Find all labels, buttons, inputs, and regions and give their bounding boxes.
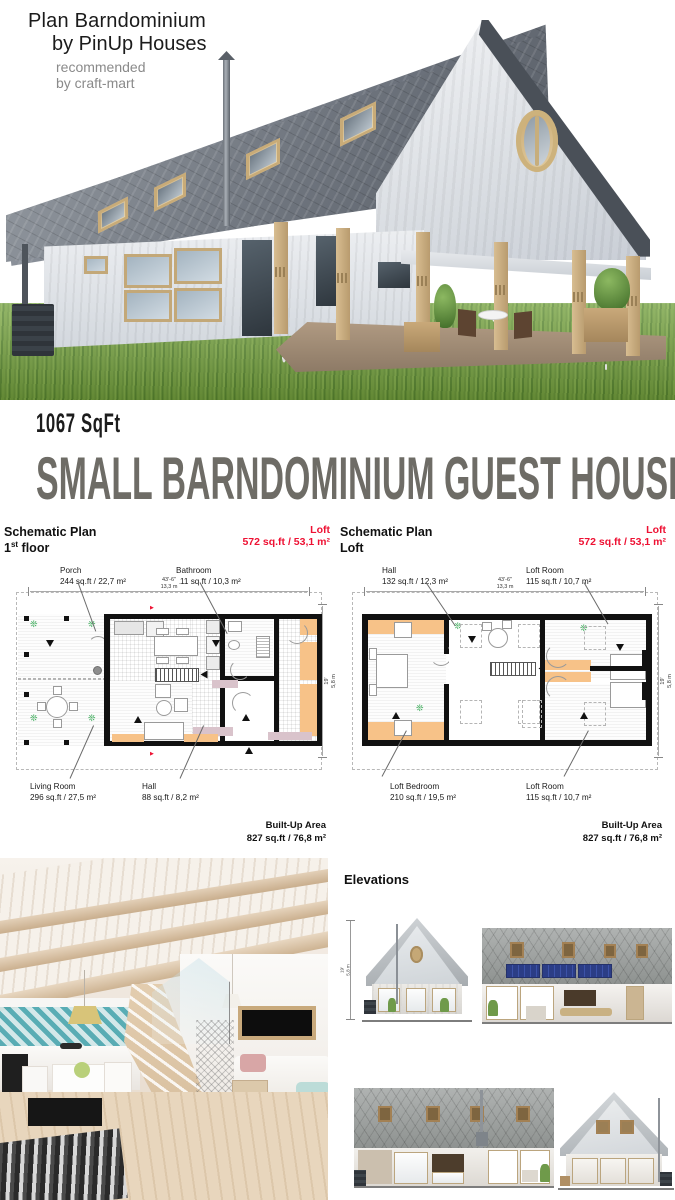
potted-plant xyxy=(388,998,396,1012)
elevation-height-dimension: 19'5,8 m xyxy=(346,920,360,1020)
elevation-rear-side xyxy=(354,1088,554,1188)
callout-arrow xyxy=(242,714,250,721)
section-marker: ▶ xyxy=(150,606,154,611)
entry-mat xyxy=(268,732,312,740)
skylight-projection xyxy=(584,626,606,650)
brand-line-2: by PinUp Houses xyxy=(52,33,207,56)
callout-porch: Porch 244 sq.ft / 22,7 m² xyxy=(60,566,126,587)
storage-box xyxy=(394,622,412,638)
built-up-area-label: Built-Up Area xyxy=(247,820,326,833)
ground-line xyxy=(362,1020,472,1022)
door xyxy=(626,986,644,1020)
callout-arrow xyxy=(580,712,588,719)
shrub-hedge xyxy=(560,1008,612,1016)
porch-post-plan xyxy=(24,616,29,621)
section-marker: ▶ xyxy=(150,752,154,757)
porch-post xyxy=(274,222,288,334)
loft-area-badge: Loft 572 sq.ft / 53,1 m² xyxy=(242,524,330,548)
built-up-area-value: 827 sq.ft / 76,8 m² xyxy=(247,833,326,846)
solar-panel-array xyxy=(506,964,540,978)
dimension-tick xyxy=(346,1019,355,1020)
interior-opening xyxy=(564,990,596,1006)
dining-chair xyxy=(176,628,189,635)
pendant-cord xyxy=(232,954,233,996)
brand-line-3: recommended xyxy=(56,59,207,75)
callout-loft-room-top-name: Loft Room xyxy=(526,566,591,577)
roof-window xyxy=(604,944,616,958)
sofa xyxy=(144,722,184,740)
callout-arrow xyxy=(616,644,624,651)
area-sqft-label: 1067 SqFt xyxy=(36,408,121,439)
callout-porch-area: 244 sq.ft / 22,7 m² xyxy=(60,577,126,588)
dining-chair xyxy=(156,628,169,635)
patio-chair-symbol xyxy=(53,719,62,728)
nightstand xyxy=(369,648,377,660)
water-tank xyxy=(12,304,54,356)
bathroom-door-swing xyxy=(230,660,250,680)
ground-line xyxy=(354,1186,554,1188)
staircase-symbol xyxy=(490,662,536,676)
cushion xyxy=(240,1054,266,1072)
callout-hall-area: 88 sq.ft / 8,2 m² xyxy=(142,793,199,804)
oval-gable-window xyxy=(516,110,558,172)
side-window xyxy=(124,254,172,288)
water-tank xyxy=(660,1172,672,1186)
patio-chair xyxy=(514,311,532,339)
round-table xyxy=(488,628,508,648)
callout-living-room: Living Room 296 sq.ft / 27,5 m² xyxy=(30,782,96,803)
interior-opening xyxy=(432,1154,464,1172)
elevation-window xyxy=(432,1172,464,1184)
solar-panel-array xyxy=(542,964,576,978)
porch-post-plan xyxy=(64,616,69,621)
patio-chair-symbol xyxy=(69,702,78,711)
patio-furniture xyxy=(526,1006,546,1020)
brand-line-4: by craft-mart xyxy=(56,75,207,91)
roof-window xyxy=(510,942,524,958)
depth-dimension-label: 19'5,8 m xyxy=(324,674,338,688)
kitchen-tile-backsplash xyxy=(0,1006,132,1046)
chimney-pipe xyxy=(396,924,398,1004)
loft-room-door-swing xyxy=(546,644,570,668)
brand-block: Plan Barndominium by PinUp Houses recomm… xyxy=(28,10,207,91)
washer-dryer xyxy=(256,636,270,658)
callout-arrow xyxy=(468,636,476,643)
callout-loft-hall-area: 132 sq.ft / 12,3 m² xyxy=(382,577,448,588)
porch-post-plan xyxy=(24,740,29,745)
callout-loft-hall-name: Hall xyxy=(382,566,448,577)
callout-arrow xyxy=(212,640,220,647)
patio-chair-symbol xyxy=(37,702,46,711)
gutter-downpipe xyxy=(22,244,28,310)
interior-photo xyxy=(0,858,328,1200)
bathtub xyxy=(228,621,242,632)
exterior-wall-right xyxy=(646,614,652,746)
exterior-wall-bottom xyxy=(362,740,652,746)
chair xyxy=(502,620,512,629)
threshold-mat xyxy=(212,680,238,688)
elevation-side-solar xyxy=(482,928,672,1024)
deck-step xyxy=(184,734,218,742)
callout-arrow xyxy=(134,716,142,723)
porch-divider xyxy=(18,678,106,680)
skylight-projection xyxy=(522,700,542,728)
width-dimension-label: 43'-6"13,3 m xyxy=(495,577,516,591)
room-divider-wall xyxy=(590,666,648,671)
entry-door-glass xyxy=(242,240,272,336)
loft-plan-block: Schematic Plan Loft Loft 572 sq.ft / 53,… xyxy=(340,524,670,849)
width-dimension-line: 43'-6"13,3 m xyxy=(30,591,308,592)
water-tank xyxy=(354,1170,366,1186)
built-up-area-label: Built-Up Area xyxy=(583,820,662,833)
loft-badge-value: 572 sq.ft / 53,1 m² xyxy=(242,536,330,548)
gable-window xyxy=(620,1120,634,1134)
oval-gable-window xyxy=(410,946,423,963)
dining-chair xyxy=(176,657,189,664)
main-entrance-arrow xyxy=(245,747,253,754)
dining-table xyxy=(154,636,198,656)
patio-chair-symbol xyxy=(53,686,62,695)
upper-cabinets xyxy=(0,998,132,1007)
wall-stub xyxy=(642,682,648,700)
tv-screen xyxy=(242,1010,312,1036)
patio-table xyxy=(478,310,508,320)
callout-loft-bedroom-name: Loft Bedroom xyxy=(390,782,456,793)
loft-area-badge: Loft 572 sq.ft / 53,1 m² xyxy=(578,524,666,548)
dimension-tick xyxy=(346,920,355,921)
elevation-window xyxy=(406,988,426,1012)
toilet xyxy=(228,640,240,650)
armchair xyxy=(155,684,171,698)
built-up-area-value: 827 sq.ft / 76,8 m² xyxy=(583,833,662,846)
porch-post-plan xyxy=(24,652,29,657)
width-dimension-line: 43'-6"13,3 m xyxy=(366,591,644,592)
first-floor-built-up-area: Built-Up Area 827 sq.ft / 76,8 m² xyxy=(247,820,326,846)
plant-symbol: ❊ xyxy=(88,714,96,723)
callout-loft-room-bottom: Loft Room 115 sq.ft / 10,7 m² xyxy=(526,782,591,803)
page-title: SMALL BARNDOMINIUM GUEST HOUSE xyxy=(36,444,675,513)
wall-vent-window xyxy=(84,256,108,274)
callout-loft-room-bottom-name: Loft Room xyxy=(526,782,591,793)
side-window xyxy=(174,288,222,322)
staircase-symbol xyxy=(155,668,199,682)
storage-door-swing xyxy=(286,622,308,644)
stair-direction-arrow xyxy=(201,671,208,679)
chimney-cap xyxy=(218,51,235,60)
chimney-pipe xyxy=(658,1098,660,1182)
loft-badge-value: 572 sq.ft / 53,1 m² xyxy=(578,536,666,548)
double-bed xyxy=(376,654,408,688)
callout-living-room-name: Living Room xyxy=(30,782,96,793)
loft-built-up-area: Built-Up Area 827 sq.ft / 76,8 m² xyxy=(583,820,662,846)
water-tank xyxy=(364,1000,376,1014)
wood-planter-box xyxy=(404,322,440,352)
kitchen-stove xyxy=(206,620,220,634)
callout-loft-bedroom: Loft Bedroom 210 sq.ft / 19,5 m² xyxy=(390,782,456,803)
elevation-window xyxy=(572,1158,598,1184)
hero-exterior-photo: Plan Barndominium by PinUp Houses recomm… xyxy=(0,0,675,400)
planter xyxy=(560,1176,570,1186)
callout-arrow xyxy=(392,712,400,719)
porch-post-plan xyxy=(24,692,29,697)
roof-flashing xyxy=(476,1132,488,1146)
mesh-railing xyxy=(196,1020,234,1098)
porch-post-plan xyxy=(64,740,69,745)
loft-badge-label: Loft xyxy=(242,524,330,536)
pendant-cord xyxy=(84,970,85,1008)
callout-loft-room-bottom-area: 115 sq.ft / 10,7 m² xyxy=(526,793,591,804)
kitchen-counter xyxy=(114,621,144,635)
armchair xyxy=(174,698,188,712)
deck-step xyxy=(112,734,144,742)
refrigerator xyxy=(206,656,220,670)
width-dimension-label: 43'-6"13,3 m xyxy=(159,577,180,591)
potted-plant xyxy=(488,1000,498,1016)
plant-symbol: ❊ xyxy=(416,704,424,713)
coffee-table xyxy=(156,700,172,716)
potted-plant xyxy=(440,998,449,1012)
depth-dimension-line xyxy=(322,606,323,756)
callout-loft-room-top-area: 115 sq.ft / 10,7 m² xyxy=(526,577,591,588)
loft-badge-label: Loft xyxy=(578,524,666,536)
wall-stub xyxy=(642,650,648,668)
patio-chair xyxy=(458,309,476,337)
storage-zone xyxy=(300,684,317,736)
callout-loft-bedroom-area: 210 sq.ft / 19,5 m² xyxy=(390,793,456,804)
roof-window xyxy=(516,1106,530,1122)
callout-hall: Hall 88 sq.ft / 8,2 m² xyxy=(142,782,199,803)
callout-bathroom-name: Bathroom xyxy=(176,566,241,577)
plant-symbol: ❊ xyxy=(30,620,38,629)
side-window xyxy=(124,290,172,322)
callout-living-room-area: 296 sq.ft / 27,5 m² xyxy=(30,793,96,804)
callout-loft-room-top: Loft Room 115 sq.ft / 10,7 m² xyxy=(526,566,591,587)
faucet xyxy=(60,1043,82,1049)
round-post-symbol xyxy=(93,666,102,675)
potted-plant xyxy=(540,1164,550,1182)
elevations-title: Elevations xyxy=(344,872,409,887)
gable-window xyxy=(596,1120,610,1134)
dining-chair xyxy=(156,657,169,664)
porch-post xyxy=(494,242,508,350)
fruit-bowl xyxy=(74,1062,90,1078)
brand-line-1: Plan Barndominium xyxy=(28,10,207,33)
elevation-rear-gable xyxy=(558,1092,674,1190)
dark-bench xyxy=(28,1098,102,1126)
porch-post xyxy=(336,228,350,340)
bed xyxy=(610,682,646,708)
patio-table-symbol xyxy=(46,696,68,718)
callout-bathroom-area: 111 sq.ft / 10,3 m² xyxy=(176,577,241,588)
elevation-window xyxy=(394,1152,428,1184)
porch-opening xyxy=(488,1150,518,1184)
porch-post xyxy=(626,256,640,356)
roof-window xyxy=(636,944,648,958)
side-window xyxy=(174,248,222,284)
elevation-front-gable xyxy=(362,918,472,1022)
ground-line xyxy=(482,1022,672,1024)
interior-window xyxy=(378,262,410,288)
skylight-projection xyxy=(460,700,482,724)
plant-symbol: ❊ xyxy=(30,714,38,723)
solar-panel-array xyxy=(578,964,612,978)
chimney-pipe xyxy=(223,56,230,226)
depth-dimension-line xyxy=(658,606,659,756)
loft-room-door-swing xyxy=(546,676,570,700)
roof-window xyxy=(562,942,575,958)
elevation-height-label: 19'5,8 m xyxy=(339,964,350,976)
elevation-window xyxy=(600,1158,626,1184)
callout-loft-hall: Hall 132 sq.ft / 12,3 m² xyxy=(382,566,448,587)
storage-zone xyxy=(300,642,317,680)
first-floor-plan-block: Schematic Plan 1st floor Loft 572 sq.ft … xyxy=(4,524,334,849)
callout-porch-name: Porch xyxy=(60,566,126,577)
nightstand xyxy=(369,684,377,696)
chair xyxy=(482,622,492,631)
ground-line xyxy=(558,1188,674,1190)
wood-planter-box xyxy=(584,308,628,342)
patio-furniture xyxy=(522,1170,538,1182)
hall-door-swing xyxy=(232,692,254,714)
roof-window xyxy=(426,1106,440,1122)
callout-arrow xyxy=(46,640,54,647)
callout-bathroom: Bathroom 111 sq.ft / 10,3 m² xyxy=(176,566,241,587)
roof-window xyxy=(378,1106,392,1122)
first-floor-drawing: 43'-6"13,3 m 19'5,8 m ❊ ❊ ❊ ❊ xyxy=(16,592,322,770)
skylight-projection xyxy=(518,624,540,648)
callout-hall-name: Hall xyxy=(142,782,199,793)
potted-shrub xyxy=(594,268,630,310)
elevation-window xyxy=(628,1158,654,1184)
depth-dimension-label: 19'5,8 m xyxy=(660,674,674,688)
